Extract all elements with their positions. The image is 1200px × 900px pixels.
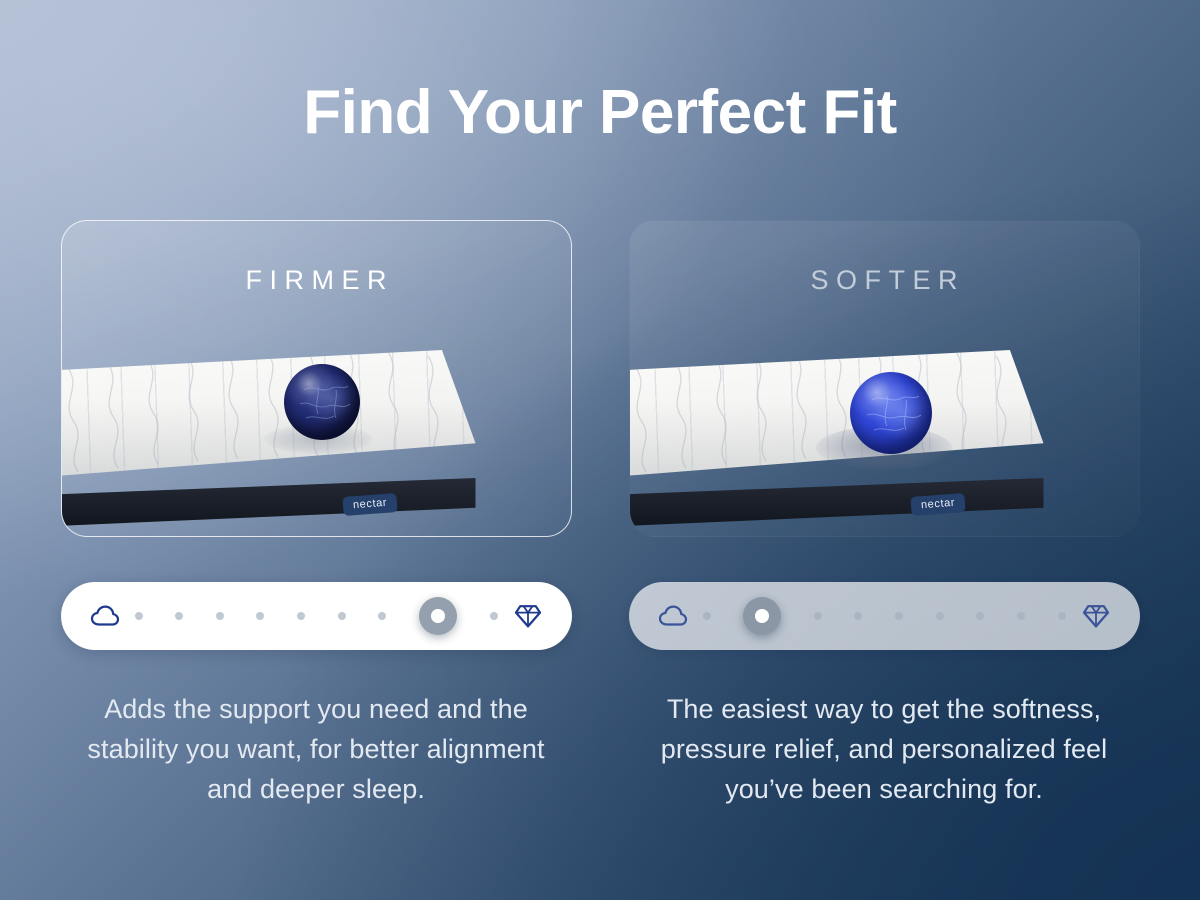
slider-tick[interactable]: [378, 612, 386, 620]
slider-tick[interactable]: [490, 612, 498, 620]
option-columns: FIRMER: [0, 220, 1200, 810]
option-caption-firmer: Adds the support you need and the stabil…: [66, 690, 566, 810]
slider-tick[interactable]: [895, 612, 903, 620]
slider-thumb-softer[interactable]: [743, 597, 781, 635]
slider-tick[interactable]: [1017, 612, 1025, 620]
promo-stage: Find Your Perfect Fit FIRMER: [0, 0, 1200, 900]
mattress-top-shading: [62, 350, 476, 476]
cloud-icon: [85, 596, 125, 636]
mattress-illustration-softer: nectar: [630, 326, 1140, 536]
option-column-firmer: FIRMER: [61, 220, 572, 810]
option-label-softer: SOFTER: [630, 265, 1139, 296]
slider-tick[interactable]: [216, 612, 224, 620]
firmness-slider-firmer[interactable]: [61, 582, 572, 650]
slider-tick[interactable]: [256, 612, 264, 620]
slider-tick[interactable]: [135, 612, 143, 620]
firmness-slider-softer[interactable]: [629, 582, 1140, 650]
marble-veins-icon: [850, 372, 932, 454]
slider-tick[interactable]: [703, 612, 711, 620]
slider-track-firmer[interactable]: [135, 596, 498, 636]
option-label-firmer: FIRMER: [62, 265, 571, 296]
option-caption-softer: The easiest way to get the softness, pre…: [634, 690, 1134, 810]
page-title: Find Your Perfect Fit: [0, 82, 1200, 144]
diamond-icon: [508, 596, 548, 636]
nectar-brand-tag: nectar: [911, 493, 966, 516]
nectar-brand-tag: nectar: [343, 493, 398, 516]
slider-tick[interactable]: [297, 612, 305, 620]
firmness-ball-firmer: [284, 364, 360, 440]
slider-thumb-firmer[interactable]: [419, 597, 457, 635]
mattress-base-band: [62, 478, 476, 526]
slider-tick[interactable]: [338, 612, 346, 620]
diamond-icon: [1076, 596, 1116, 636]
option-column-softer: SOFTER: [629, 220, 1140, 810]
marble-veins-icon: [284, 364, 360, 440]
slider-tick[interactable]: [976, 612, 984, 620]
firmness-ball-softer: [850, 372, 932, 454]
option-card-softer[interactable]: SOFTER: [629, 220, 1140, 537]
cloud-icon: [653, 596, 693, 636]
slider-tick[interactable]: [936, 612, 944, 620]
slider-tick[interactable]: [814, 612, 822, 620]
slider-tick[interactable]: [1058, 612, 1066, 620]
slider-track-softer[interactable]: [703, 596, 1066, 636]
mattress-base-band: [630, 478, 1044, 526]
slider-tick[interactable]: [175, 612, 183, 620]
mattress-illustration-firmer: nectar: [62, 326, 572, 536]
slider-tick[interactable]: [854, 612, 862, 620]
option-card-firmer[interactable]: FIRMER: [61, 220, 572, 537]
